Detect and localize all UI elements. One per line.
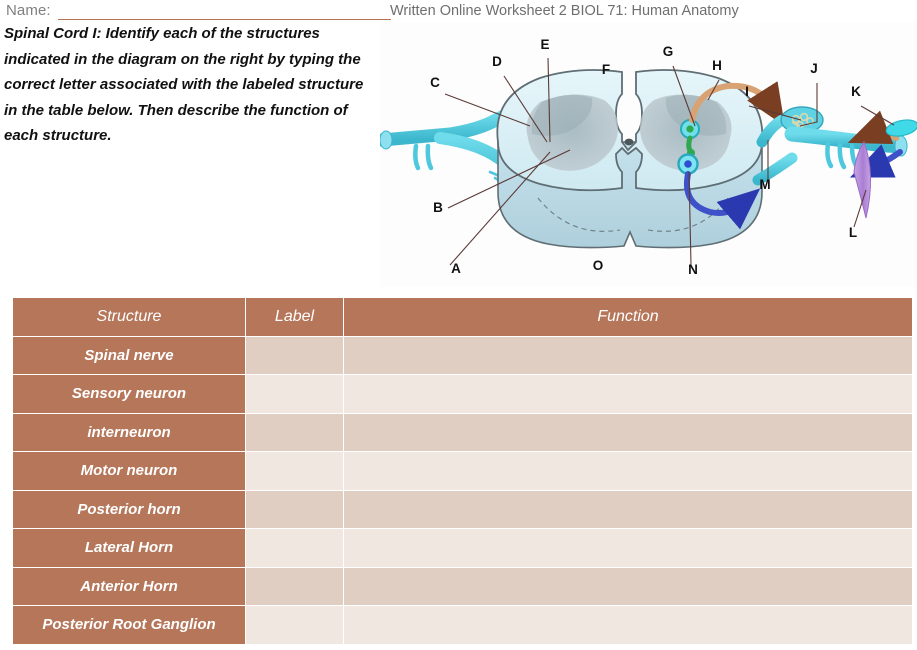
- diagram-label-H: H: [712, 58, 722, 73]
- function-answer-posterior-root-ganglion[interactable]: [344, 606, 912, 645]
- diagram-label-K: K: [851, 84, 861, 99]
- function-answer-motor-neuron[interactable]: [344, 452, 912, 491]
- structure-name-lateral-horn: Lateral Horn: [13, 529, 246, 568]
- label-answer-motor-neuron[interactable]: [246, 452, 344, 491]
- diagram-label-A: A: [451, 261, 461, 276]
- structure-function-table: Structure Label Function Spinal nerve Se…: [13, 298, 912, 645]
- diagram-label-O: O: [593, 258, 604, 273]
- structure-name-posterior-root-ganglion: Posterior Root Ganglion: [13, 606, 246, 645]
- sensory-receptor: [870, 117, 917, 138]
- name-write-in-line[interactable]: [58, 19, 391, 20]
- table-row: Anterior Horn: [13, 568, 912, 607]
- structure-name-posterior-horn: Posterior horn: [13, 491, 246, 530]
- column-header-structure: Structure: [13, 298, 246, 337]
- structure-name-interneuron: interneuron: [13, 414, 246, 453]
- diagram-label-M: M: [759, 177, 770, 192]
- table-row: Spinal nerve: [13, 337, 912, 376]
- label-answer-sensory-neuron[interactable]: [246, 375, 344, 414]
- table-header-row: Structure Label Function: [13, 298, 912, 337]
- diagram-label-L: L: [849, 225, 857, 240]
- motor-neuron-cell: [679, 155, 698, 174]
- worksheet-title: Written Online Worksheet 2 BIOL 71: Huma…: [390, 3, 739, 19]
- function-answer-spinal-nerve[interactable]: [344, 337, 912, 376]
- structure-name-spinal-nerve: Spinal nerve: [13, 337, 246, 376]
- column-header-function: Function: [344, 298, 912, 337]
- function-answer-anterior-horn[interactable]: [344, 568, 912, 607]
- diagram-label-C: C: [430, 75, 440, 90]
- diagram-label-I: I: [745, 84, 749, 99]
- table-row: Posterior horn: [13, 491, 912, 530]
- function-answer-posterior-horn[interactable]: [344, 491, 912, 530]
- label-answer-interneuron[interactable]: [246, 414, 344, 453]
- diagram-label-N: N: [688, 262, 698, 277]
- function-answer-interneuron[interactable]: [344, 414, 912, 453]
- spinal-cord-diagram: A B C D E F G H I J K L M N O: [380, 22, 917, 287]
- diagram-label-F: F: [602, 62, 610, 77]
- diagram-label-E: E: [540, 37, 549, 52]
- diagram-label-G: G: [663, 44, 674, 59]
- label-answer-posterior-horn[interactable]: [246, 491, 344, 530]
- diagram-label-D: D: [492, 54, 502, 69]
- structure-name-sensory-neuron: Sensory neuron: [13, 375, 246, 414]
- column-header-label: Label: [246, 298, 344, 337]
- label-answer-anterior-horn[interactable]: [246, 568, 344, 607]
- label-answer-spinal-nerve[interactable]: [246, 337, 344, 376]
- instructions-text: Spinal Cord I: Identify each of the stru…: [4, 21, 376, 149]
- table-row: Lateral Horn: [13, 529, 912, 568]
- table-row: Sensory neuron: [13, 375, 912, 414]
- function-answer-lateral-horn[interactable]: [344, 529, 912, 568]
- table-row: Posterior Root Ganglion: [13, 606, 912, 645]
- diagram-label-J: J: [810, 61, 818, 76]
- label-answer-lateral-horn[interactable]: [246, 529, 344, 568]
- diagram-label-B: B: [433, 200, 443, 215]
- name-label: Name:: [6, 2, 51, 19]
- table-row: interneuron: [13, 414, 912, 453]
- structure-name-anterior-horn: Anterior Horn: [13, 568, 246, 607]
- central-canal: [625, 139, 634, 146]
- structure-name-motor-neuron: Motor neuron: [13, 452, 246, 491]
- right-spinal-nerve: [758, 107, 907, 180]
- label-answer-posterior-root-ganglion[interactable]: [246, 606, 344, 645]
- table-row: Motor neuron: [13, 452, 912, 491]
- function-answer-sensory-neuron[interactable]: [344, 375, 912, 414]
